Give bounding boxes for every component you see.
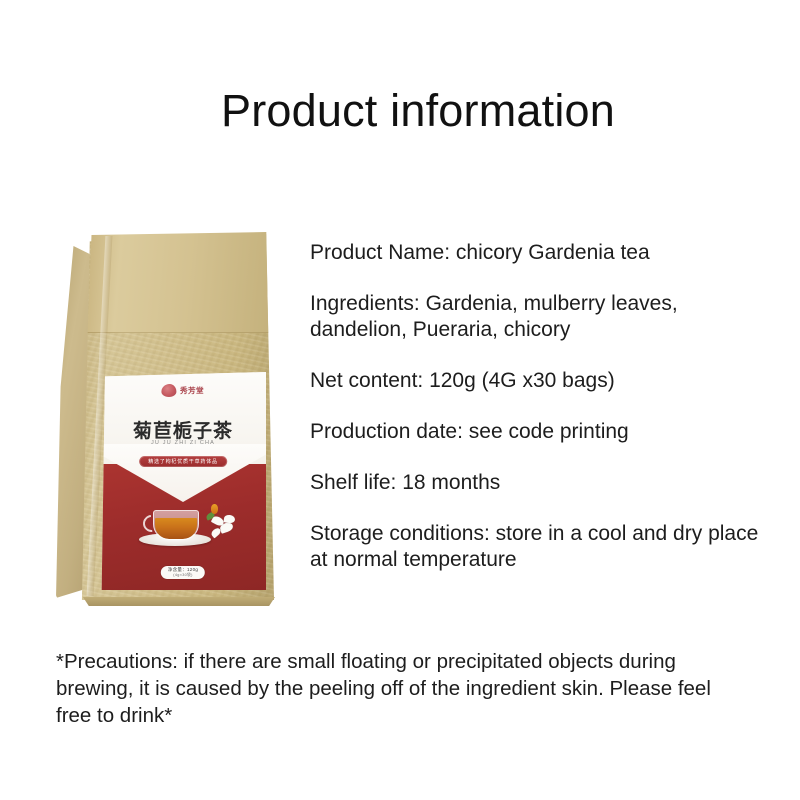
spec-production-date: Production date: see code printing — [310, 419, 770, 445]
teacup-illustration — [129, 492, 237, 552]
page-title: Product information — [0, 86, 800, 136]
gardenia-flowers-illustration — [201, 502, 235, 542]
glass-cup-shape — [153, 510, 199, 540]
spec-ingredients: Ingredients: Gardenia, mulberry leaves, … — [310, 291, 770, 343]
brewed-tea-liquid — [155, 518, 197, 539]
product-information-page: Product information 秀芳堂 菊苣栀子茶 JU JU ZHI … — [0, 0, 800, 800]
label-net-weight-badge: 净含量：120g (4g×30袋) — [161, 566, 205, 579]
brand-name-text: 秀芳堂 — [180, 385, 204, 395]
label-net-weight-line2: (4g×30袋) — [168, 573, 198, 577]
label-pinyin: JU JU ZHI ZI CHA — [100, 440, 266, 446]
label-tagline-banner: 精选了枸杞优质干草药体品 — [139, 456, 227, 467]
brand-logo: 秀芳堂 — [161, 384, 204, 397]
logo-mark-icon — [161, 384, 176, 397]
spec-storage-conditions: Storage conditions: store in a cool and … — [310, 521, 770, 573]
flower-petal — [223, 514, 235, 523]
product-package-image: 秀芳堂 菊苣栀子茶 JU JU ZHI ZI CHA 精选了枸杞优质干草药体品 — [52, 228, 284, 606]
pouch-bottom-edge — [79, 597, 275, 606]
precautions-note: *Precautions: if there are small floatin… — [56, 648, 726, 729]
package-label: 秀芳堂 菊苣栀子茶 JU JU ZHI ZI CHA 精选了枸杞优质干草药体品 — [100, 372, 266, 590]
gardenia-fruit-shape — [211, 504, 218, 514]
spec-net-content: Net content: 120g (4G x30 bags) — [310, 368, 770, 394]
spec-shelf-life: Shelf life: 18 months — [310, 470, 770, 496]
specification-list: Product Name: chicory Gardenia tea Ingre… — [310, 240, 770, 573]
label-product-name-cn: 菊苣栀子茶 — [100, 416, 266, 443]
spec-product-name: Product Name: chicory Gardenia tea — [310, 240, 770, 266]
